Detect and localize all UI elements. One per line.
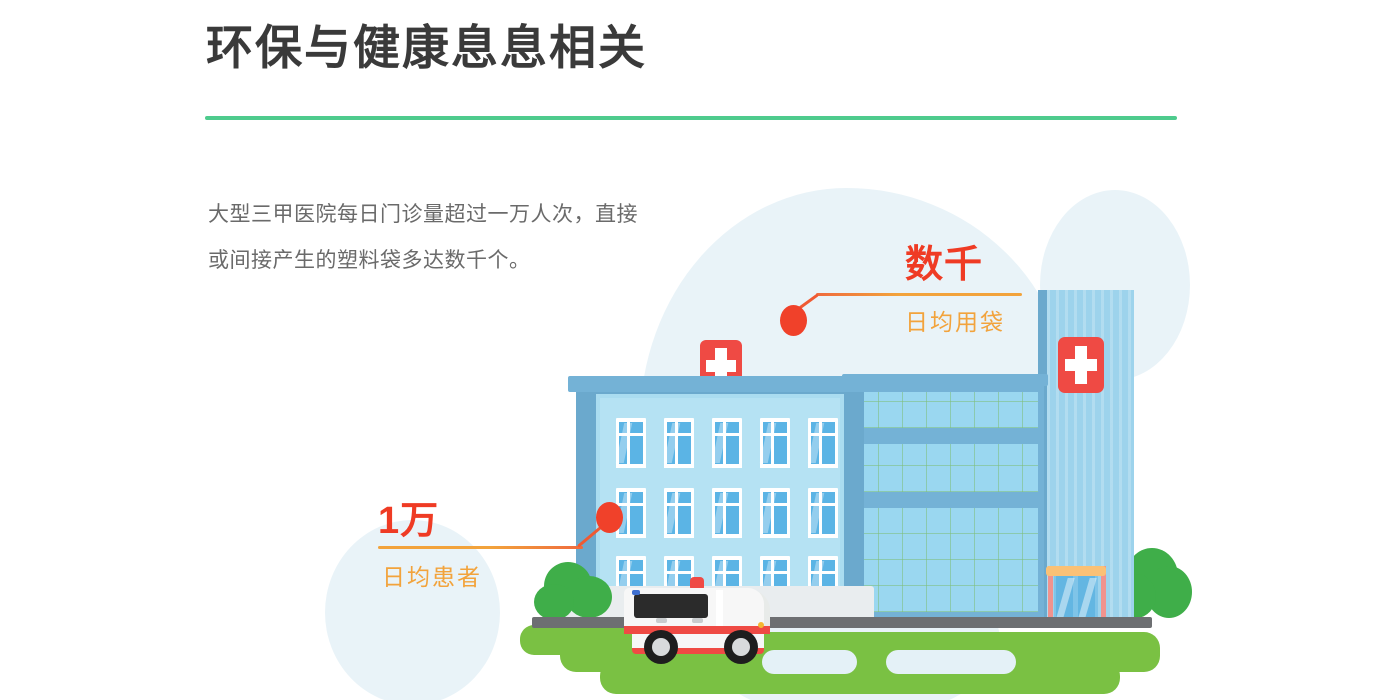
ambulance-wheel bbox=[644, 630, 678, 664]
callout-rule-daily-bags bbox=[816, 293, 1022, 296]
callout-number-daily-bags: 数千 bbox=[905, 233, 983, 288]
callout-rule-daily-patients bbox=[378, 546, 583, 549]
callout-marker-dot-daily-patients bbox=[596, 502, 623, 533]
ambulance-blue-light bbox=[632, 590, 640, 595]
path-dash bbox=[886, 650, 1016, 674]
building-window bbox=[712, 418, 742, 468]
red-cross-icon bbox=[1058, 337, 1104, 393]
ambulance-marker-light bbox=[758, 622, 764, 628]
callout-marker-dot-daily-bags bbox=[780, 305, 807, 336]
slide-canvas: 环保与健康息息相关 大型三甲医院每日门诊量超过一万人次，直接或间接产生的塑料袋多… bbox=[0, 0, 1400, 700]
callout-label-daily-patients: 日均患者 bbox=[382, 558, 482, 592]
building-window bbox=[664, 488, 694, 538]
ambulance-door-handle bbox=[692, 618, 703, 623]
tower-entrance-door bbox=[1054, 576, 1098, 618]
building-window bbox=[712, 488, 742, 538]
ambulance-window bbox=[634, 594, 708, 618]
lawn-strip-lower bbox=[600, 660, 1120, 694]
glass-curtain-band bbox=[854, 444, 1038, 492]
building-window bbox=[616, 418, 646, 468]
glass-midrise-block bbox=[848, 382, 1044, 620]
building-window bbox=[664, 418, 694, 468]
callout-label-daily-bags: 日均用袋 bbox=[905, 303, 1005, 337]
glass-curtain-band bbox=[854, 392, 1038, 428]
bush-icon bbox=[534, 584, 574, 620]
building-window bbox=[760, 418, 790, 468]
ambulance-door-handle bbox=[656, 618, 667, 623]
ambulance-wheel bbox=[724, 630, 758, 664]
hospital-illustration bbox=[0, 0, 1400, 700]
building-window bbox=[808, 488, 838, 538]
building-window bbox=[760, 488, 790, 538]
ambulance-illustration bbox=[618, 572, 778, 664]
callout-number-daily-patients: 1万 bbox=[378, 489, 439, 544]
entrance-awning bbox=[1046, 566, 1106, 576]
glass-curtain-band bbox=[854, 508, 1038, 612]
building-window bbox=[808, 418, 838, 468]
main-building-roof bbox=[568, 376, 872, 392]
